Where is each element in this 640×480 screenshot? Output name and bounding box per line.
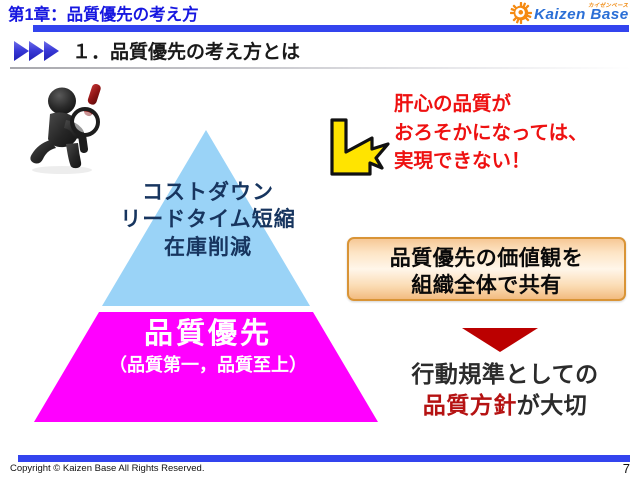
section-heading-underline [10,67,632,69]
pyramid-upper-label: コストダウン リードタイム短縮 在庫削減 [30,179,386,261]
shared-values-label: 品質優先の価値観を 組織全体で共有 [349,245,624,300]
shared-values-box: 品質優先の価値観を 組織全体で共有 [347,237,626,301]
conclusion-accent: 品質方針 [423,392,517,418]
arrow-down-triangle-icon [462,328,538,352]
header-divider-bar [33,25,629,32]
footer-copyright: Copyright © Kaizen Base All Rights Reser… [10,463,204,474]
section-heading-label: １．品質優先の考え方とは [72,37,300,64]
section-heading-row: １．品質優先の考え方とは [0,38,640,66]
warning-callout-text: 肝心の品質が おろそかになっては、 実現できない！ [394,90,588,176]
triple-chevron-right-icon [14,40,70,62]
conclusion-line-2: 品質方針が大切 [378,391,632,421]
conclusion-text: 行動規準としての 品質方針が大切 [378,360,632,421]
conclusion-suffix: が大切 [517,392,588,418]
logo-wordmark: Kaizen Base [534,6,629,23]
page-title: 第1章：品質優先の考え方 [8,1,199,25]
footer-divider-bar [18,455,630,462]
bent-arrow-down-left-icon [323,112,393,184]
conclusion-line-1: 行動規準としての [378,360,632,390]
pyramid-base-main-text: 品質優先 [30,318,386,351]
pyramid-base-label: 品質優先 （品質第一，品質至上） [30,318,386,378]
slide-header: 第1章：品質優先の考え方 [0,0,640,34]
pyramid-base-sub-text: （品質第一，品質至上） [30,354,386,377]
gear-sun-icon [510,2,532,24]
kaizen-base-logo: カイゼンベース Kaizen Base [504,1,634,27]
page-number: 7 [623,461,630,476]
